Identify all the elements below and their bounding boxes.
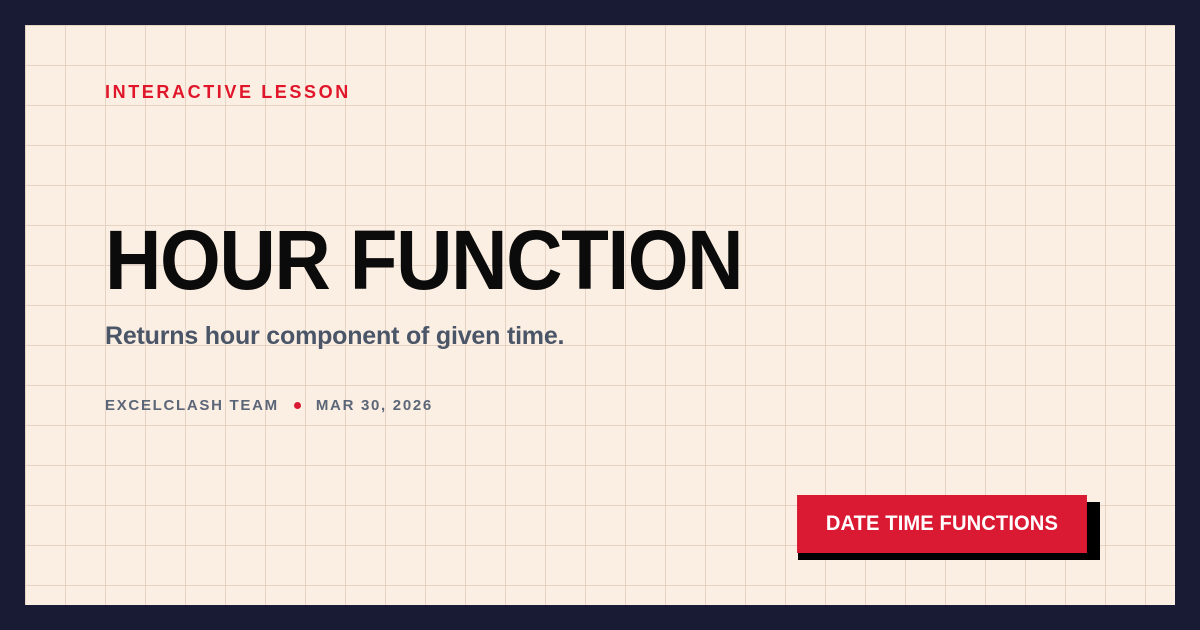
bullet-dot-icon [294, 402, 301, 409]
category-badge-button[interactable]: DATE TIME FUNCTIONS [797, 495, 1087, 553]
kicker-label: INTERACTIVE LESSON [105, 83, 351, 101]
page-title: HOUR FUNCTION [105, 221, 742, 301]
byline-date: MAR 30, 2026 [316, 398, 433, 413]
category-badge-wrapper: DATE TIME FUNCTIONS [791, 495, 1093, 553]
byline-author: EXCELCLASH TEAM [105, 398, 279, 413]
lesson-banner: INTERACTIVE LESSON HOUR FUNCTION Returns… [0, 0, 1200, 630]
page-subtitle: Returns hour component of given time. [105, 320, 564, 353]
byline: EXCELCLASH TEAM MAR 30, 2026 [105, 398, 433, 413]
grid-canvas: INTERACTIVE LESSON HOUR FUNCTION Returns… [25, 25, 1175, 605]
